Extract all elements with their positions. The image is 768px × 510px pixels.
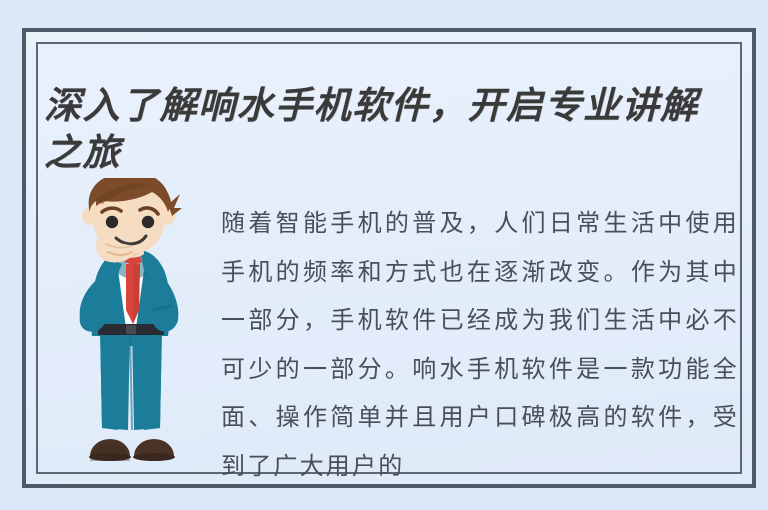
page-root: 深入了解响水手机软件，开启专业讲解之旅 xyxy=(0,0,768,510)
article-body-text: 随着智能手机的普及，人们日常生活中使用手机的频率和方式也在逐渐改变。作为其中一部… xyxy=(221,200,739,491)
page-title: 深入了解响水手机软件，开启专业讲解之旅 xyxy=(44,83,730,177)
thinking-businessman-illustration xyxy=(56,178,206,478)
